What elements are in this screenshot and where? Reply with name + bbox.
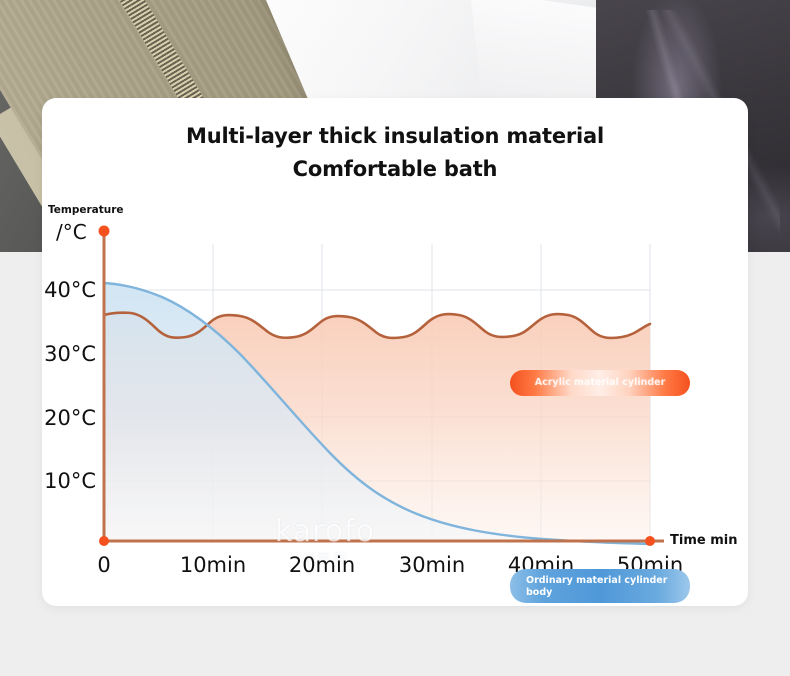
legend-acrylic-label: Acrylic material cylinder [535, 377, 666, 389]
origin-dot [99, 536, 109, 546]
y-axis-unit: /°C [56, 220, 87, 244]
chart-card: Multi-layer thick insulation material Co… [42, 98, 748, 606]
x-tick-0: 0 [59, 553, 149, 577]
y-axis-cap-dot [99, 226, 110, 237]
x-axis-title: Time min [670, 533, 737, 548]
y-tick-20: 20°C [42, 406, 96, 430]
x-tick-10: 10min [168, 553, 258, 577]
legend-ordinary-label: Ordinary material cylinder body [526, 575, 674, 599]
page-root: Multi-layer thick insulation material Co… [0, 0, 790, 676]
chart-svg [42, 98, 748, 606]
x-axis-end-dot [645, 536, 655, 546]
y-tick-10: 10°C [42, 469, 96, 493]
y-axis-title: Temperature [48, 204, 124, 216]
x-tick-20: 20min [277, 553, 367, 577]
y-tick-40: 40°C [42, 278, 96, 302]
x-tick-30: 30min [387, 553, 477, 577]
legend-ordinary: Ordinary material cylinder body [510, 569, 690, 603]
y-tick-30: 30°C [42, 342, 96, 366]
legend-acrylic: Acrylic material cylinder [510, 370, 690, 396]
plot-area: karofo 卡罗芙 Temperature /°C Time min 40°C… [42, 98, 748, 606]
